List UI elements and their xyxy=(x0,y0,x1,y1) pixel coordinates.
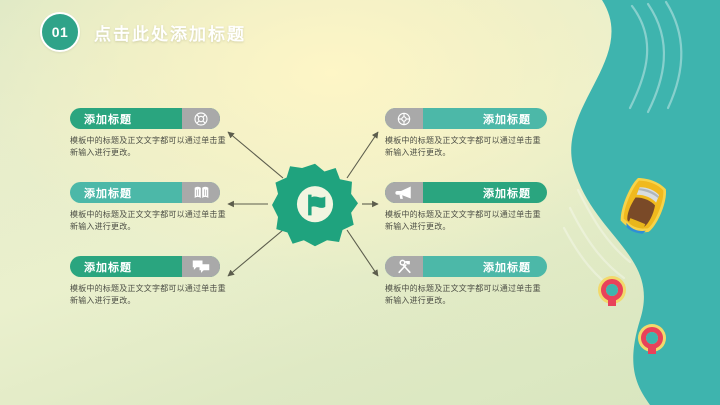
lifebuoy-icon xyxy=(182,108,220,129)
item-pill[interactable]: 添加标题 xyxy=(70,182,220,203)
item-pill[interactable]: 添加标题 xyxy=(385,256,547,277)
section-number-badge: 01 xyxy=(40,12,80,52)
item-body: 模板中的标题及正文文字都可以通过单击重新输入进行更改。 xyxy=(385,135,547,160)
lifebuoy-decoration xyxy=(598,276,626,306)
item-title: 添加标题 xyxy=(423,108,547,129)
list-item[interactable]: 添加标题 模板中的标题及正文文字都可以通过单击重新输入进行更改。 xyxy=(385,256,550,308)
megaphone-icon xyxy=(385,182,423,203)
gear-flag-icon[interactable] xyxy=(272,162,358,248)
tools-icon xyxy=(385,256,423,277)
item-body: 模板中的标题及正文文字都可以通过单击重新输入进行更改。 xyxy=(70,135,230,160)
list-item[interactable]: 添加标题 模板中的标题及正文文字都可以通过单击重新输入进行更改。 xyxy=(70,256,235,308)
item-body: 模板中的标题及正文文字都可以通过单击重新输入进行更改。 xyxy=(385,283,547,308)
item-title: 添加标题 xyxy=(423,182,547,203)
slide-canvas: 01 点击此处添加标题 添加标题 模板中的标题 xyxy=(0,0,720,405)
item-body: 模板中的标题及正文文字都可以通过单击重新输入进行更改。 xyxy=(70,283,230,308)
list-item[interactable]: 添加标题 模板中的标题及正文文字都可以通过单击重新输入进行更改。 xyxy=(385,108,550,160)
chat-bubbles-icon xyxy=(182,256,220,277)
item-body: 模板中的标题及正文文字都可以通过单击重新输入进行更改。 xyxy=(385,209,547,234)
item-body: 模板中的标题及正文文字都可以通过单击重新输入进行更改。 xyxy=(70,209,230,234)
list-item[interactable]: 添加标题 模板中的标题及正文文字都可以通过单击重新输入进行更改。 xyxy=(70,182,235,234)
item-title: 添加标题 xyxy=(70,182,182,203)
page-title: 点击此处添加标题 xyxy=(94,20,246,45)
item-pill[interactable]: 添加标题 xyxy=(70,256,220,277)
slide-header: 01 点击此处添加标题 xyxy=(40,12,246,52)
item-title: 添加标题 xyxy=(70,108,182,129)
list-item[interactable]: 添加标题 模板中的标题及正文文字都可以通过单击重新输入进行更改。 xyxy=(385,182,550,234)
item-pill[interactable]: 添加标题 xyxy=(385,108,547,129)
open-book-icon xyxy=(182,182,220,203)
item-title: 添加标题 xyxy=(423,256,547,277)
ship-wheel-icon xyxy=(385,108,423,129)
list-item[interactable]: 添加标题 模板中的标题及正文文字都可以通过单击重新输入进行更改。 xyxy=(70,108,235,160)
item-pill[interactable]: 添加标题 xyxy=(385,182,547,203)
item-title: 添加标题 xyxy=(70,256,182,277)
item-pill[interactable]: 添加标题 xyxy=(70,108,220,129)
